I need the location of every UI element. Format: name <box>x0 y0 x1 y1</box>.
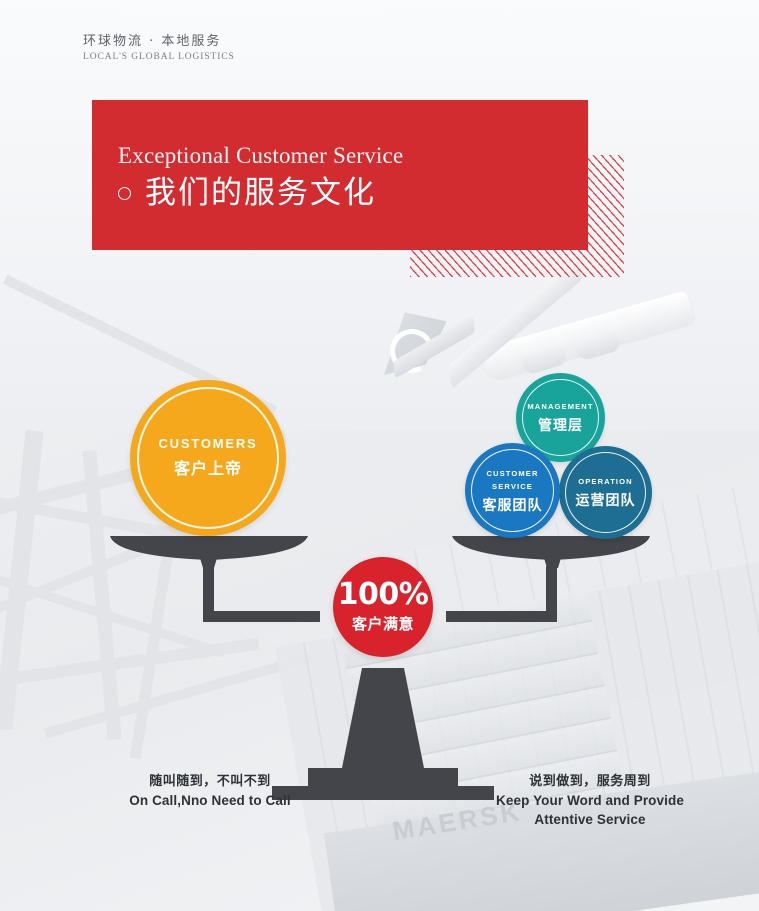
banner-title-en: Exceptional Customer Service <box>118 143 403 169</box>
circle-customer-service-label-en-line1: CUSTOMER <box>486 467 538 480</box>
satisfaction-label-cn: 客户满意 <box>352 613 414 634</box>
caption-right: 说到做到，服务周到 Keep Your Word and Provide Att… <box>480 772 700 829</box>
circle-management-label-en: MANAGEMENT <box>527 400 593 413</box>
brand-name-cn: 环球物流 · 本地服务 <box>83 33 235 51</box>
circle-customer-service-label-en-line2: SERVICE <box>492 480 533 493</box>
circle-satisfaction-score[interactable]: 100% 客户满意 <box>333 557 433 657</box>
caption-left: 随叫随到，不叫不到 On Call,Nno Need to Call <box>110 772 310 810</box>
circle-customers[interactable]: CUSTOMERS 客户上帝 <box>130 380 286 536</box>
satisfaction-percent-value: 100% <box>338 580 429 610</box>
circle-operation-label-cn: 运营团队 <box>576 490 636 510</box>
hollow-circle-bullet-icon <box>118 187 131 200</box>
caption-right-en-line2: Attentive Service <box>480 810 700 829</box>
circle-customer-service-label-cn: 客服团队 <box>483 495 543 515</box>
caption-left-cn: 随叫随到，不叫不到 <box>110 772 310 791</box>
caption-left-en: On Call,Nno Need to Call <box>110 791 310 810</box>
circle-customers-label-en: CUSTOMERS <box>158 437 257 450</box>
brand-logo: 环球物流 · 本地服务 LOCAL'S GLOBAL LOGISTICS <box>83 33 235 64</box>
circle-operation[interactable]: OPERATION 运营团队 <box>559 446 652 539</box>
circle-customers-label-cn: 客户上帝 <box>174 455 242 479</box>
banner-subtitle-row: 我们的服务文化 <box>118 173 376 213</box>
crane-column <box>82 450 121 740</box>
title-banner: Exceptional Customer Service 我们的服务文化 <box>92 100 588 250</box>
caption-right-cn: 说到做到，服务周到 <box>480 772 700 791</box>
circle-customer-service[interactable]: CUSTOMER SERVICE 客服团队 <box>465 443 560 538</box>
banner-title-cn: 我们的服务文化 <box>145 173 376 213</box>
slide-canvas: MAERSK 环球物流 · 本地服务 LOCAL'S GLOBAL LOGIST… <box>0 0 759 911</box>
caption-right-en-line1: Keep Your Word and Provide <box>480 791 700 810</box>
circle-management-label-cn: 管理层 <box>538 415 583 435</box>
brand-name-en: LOCAL'S GLOBAL LOGISTICS <box>83 51 235 64</box>
circle-operation-label-en: OPERATION <box>578 475 632 488</box>
